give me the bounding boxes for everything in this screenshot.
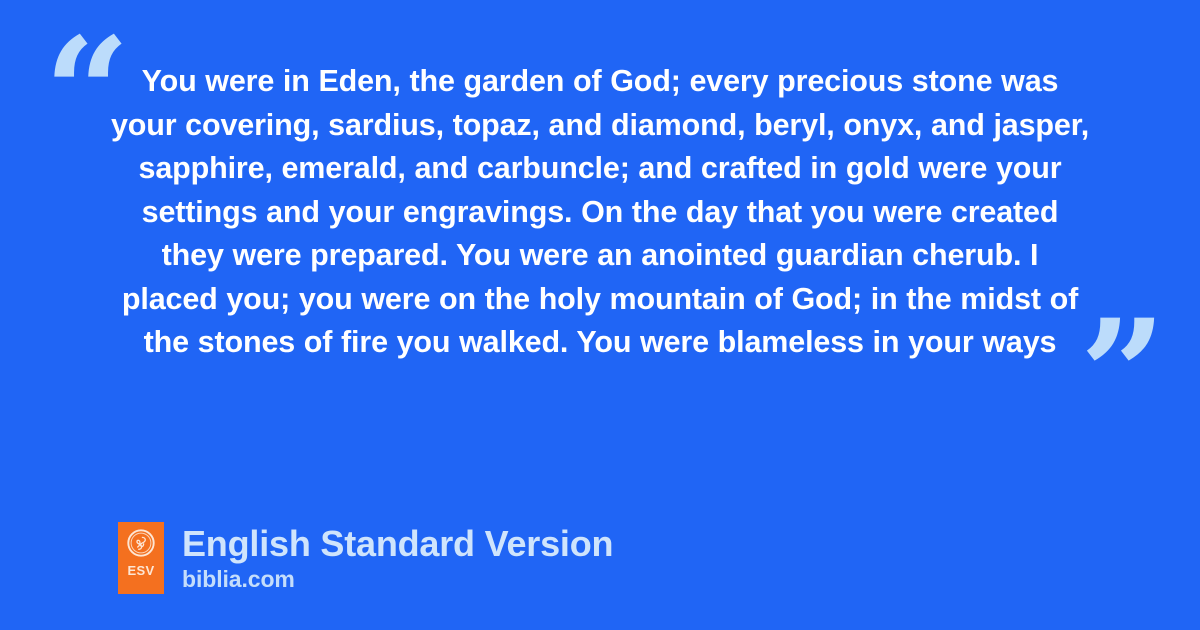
attribution-text: English Standard Version biblia.com [182,522,613,594]
bible-version-name: English Standard Version [182,524,613,564]
esv-seal-icon [127,529,155,557]
quote-body: You were in Eden, the garden of God; eve… [110,60,1090,365]
attribution-footer: ESV English Standard Version biblia.com [118,522,613,594]
verse-quote-card: “ ” You were in Eden, the garden of God;… [0,0,1200,630]
verse-text: You were in Eden, the garden of God; eve… [110,60,1090,365]
esv-logo-badge: ESV [118,522,164,594]
closing-quote-icon: ” [1080,300,1166,450]
esv-abbreviation-label: ESV [128,564,155,577]
site-name-label: biblia.com [182,565,613,593]
